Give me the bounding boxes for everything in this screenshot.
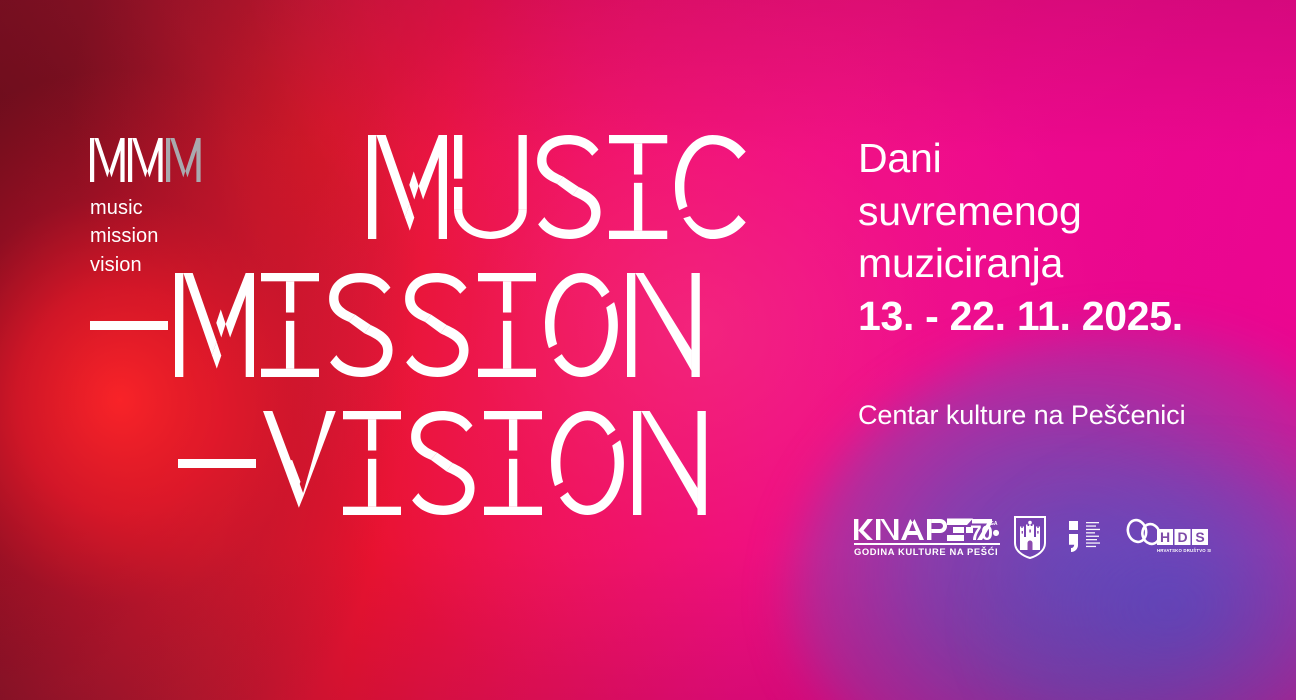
ministry-of-culture-logo[interactable] <box>1060 508 1122 566</box>
event-info-block: Dani suvremenog muziciranja 13. - 22. 11… <box>858 132 1278 343</box>
glyph-I <box>343 411 401 515</box>
partner-logo-strip: 70•20 GA GODINA KULTURE NA PEŠĆI <box>852 508 1214 566</box>
svg-text:GA: GA <box>990 521 998 527</box>
glyph-I <box>484 411 542 515</box>
glyph-I <box>478 273 536 377</box>
glyph-O <box>543 273 620 377</box>
glyph-N <box>633 411 706 515</box>
event-title-line-3: muziciranja <box>858 237 1278 290</box>
glyph-I <box>609 135 667 239</box>
glyph-M <box>175 273 254 377</box>
glyph-S <box>402 273 471 377</box>
city-of-zagreb-logo[interactable] <box>1000 508 1060 566</box>
glyph-O <box>549 411 626 515</box>
event-title-line-1: Dani <box>858 132 1278 185</box>
glyph-S <box>408 411 477 515</box>
glyph-N <box>627 273 700 377</box>
event-venue: Centar kulture na Peščenici <box>858 400 1185 431</box>
hds-logo[interactable]: H D S HRVATSKO DRUŠTVO SKLADATELJA <box>1122 508 1214 566</box>
knap-logo[interactable]: 70•20 GA GODINA KULTURE NA PEŠĆI <box>852 508 1000 566</box>
event-dates: 13. - 22. 11. 2025. <box>858 290 1278 343</box>
glyph-M <box>368 135 447 239</box>
event-title-line-2: suvremenog <box>858 185 1278 238</box>
glyph-S <box>326 273 395 377</box>
glyph-C <box>675 135 750 239</box>
svg-text:HRVATSKO DRUŠTVO SKLADATELJA: HRVATSKO DRUŠTVO SKLADATELJA <box>1157 548 1211 553</box>
headline-line-vision <box>80 394 840 532</box>
headline-line-mission <box>80 256 840 394</box>
glyph-I <box>261 273 319 377</box>
headline <box>80 118 840 532</box>
headline-line-music <box>80 118 840 256</box>
glyph-V <box>263 411 336 515</box>
glyph-dash <box>178 411 256 515</box>
svg-text:S: S <box>1195 529 1204 545</box>
svg-text:H: H <box>1160 529 1170 545</box>
svg-text:D: D <box>1177 529 1187 545</box>
poster-canvas: music mission vision <box>0 0 1296 700</box>
glyph-dash <box>90 273 168 377</box>
glyph-U <box>454 135 527 239</box>
svg-text:GODINA KULTURE NA PEŠĆI: GODINA KULTURE NA PEŠĆI <box>854 546 998 557</box>
glyph-S <box>534 135 603 239</box>
